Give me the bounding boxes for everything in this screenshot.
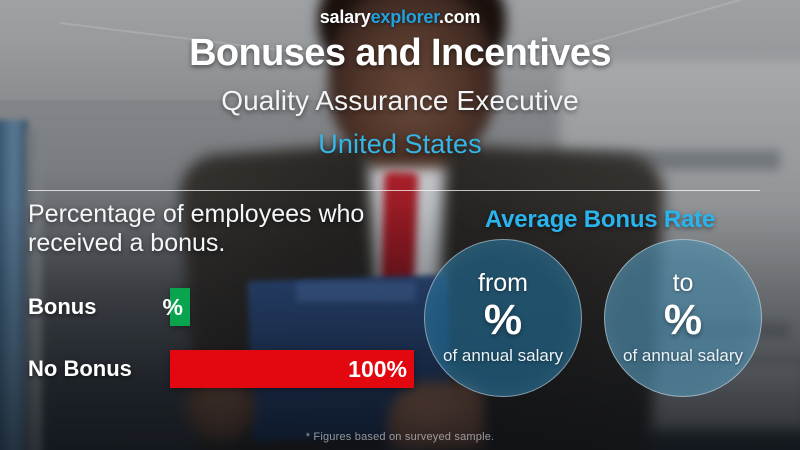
bar-label-bonus: Bonus xyxy=(28,288,96,326)
average-bonus-rate-title: Average Bonus Rate xyxy=(430,206,770,234)
job-title: Quality Assurance Executive xyxy=(0,84,800,118)
bonus-rate-from-sublabel: of annual salary xyxy=(443,346,563,366)
logo-part-salary: salary xyxy=(320,7,371,27)
bar-row-bonus: Bonus % xyxy=(28,288,414,326)
bonus-rate-from-value: % xyxy=(484,295,522,345)
bar-track-no-bonus: 100% xyxy=(170,350,414,388)
bonus-chart-caption: Percentage of employees who received a b… xyxy=(28,200,428,258)
bonus-rate-from-caption: from xyxy=(478,270,528,297)
bar-fill-no-bonus: 100% xyxy=(170,350,414,388)
bar-value-bonus: % xyxy=(163,294,183,321)
infographic-canvas: salaryexplorer.com Bonuses and Incentive… xyxy=(0,0,800,450)
bar-row-no-bonus: No Bonus 100% xyxy=(28,350,414,388)
page-title: Bonuses and Incentives xyxy=(0,31,800,76)
country-label: United States xyxy=(0,128,800,160)
bar-track-bonus: % xyxy=(170,288,414,326)
bar-label-no-bonus: No Bonus xyxy=(28,350,132,388)
bonus-rate-circle-from: from % of annual salary xyxy=(424,239,582,397)
bar-fill-bonus: % xyxy=(170,288,190,326)
site-logo[interactable]: salaryexplorer.com xyxy=(0,6,800,28)
bonus-rate-circle-to: to % of annual salary xyxy=(604,239,762,397)
footnote: * Figures based on surveyed sample. xyxy=(0,430,800,444)
bonus-rate-to-caption: to xyxy=(673,270,694,297)
bonus-rate-to-value: % xyxy=(664,295,702,345)
header-divider xyxy=(28,190,760,191)
bonus-rate-to-sublabel: of annual salary xyxy=(623,346,743,366)
logo-part-domain: .com xyxy=(439,7,480,27)
bar-value-no-bonus: 100% xyxy=(348,356,407,383)
logo-part-explorer: explorer xyxy=(371,7,439,27)
